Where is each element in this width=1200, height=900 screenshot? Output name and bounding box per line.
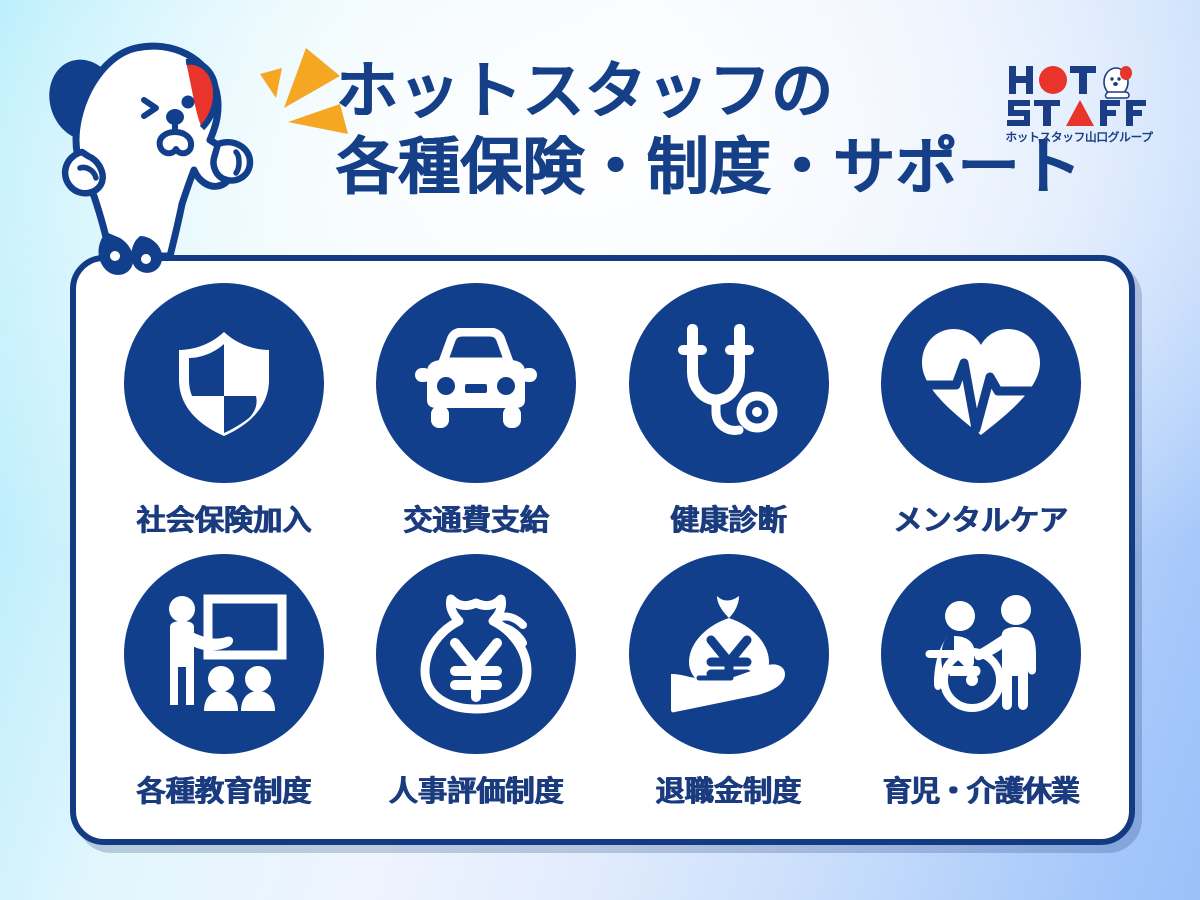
sparkle-icon (288, 104, 348, 134)
benefit-label: 健康診断 (670, 497, 787, 539)
benefit-icon-badge (629, 283, 829, 483)
car-icon (413, 328, 539, 438)
benefit-item-training-programs[interactable]: 各種教育制度 (98, 552, 350, 821)
benefit-item-health-checkup[interactable]: 健康診断 (603, 283, 855, 552)
benefit-icon-badge (881, 283, 1081, 483)
hot-staff-logomark (1004, 62, 1154, 128)
shield-icon (165, 324, 283, 442)
presentation-training-icon (160, 593, 288, 715)
page-title-line-1: ホットスタッフの (336, 54, 1082, 130)
sparkle-icon (284, 48, 340, 108)
benefit-icon-badge (376, 554, 576, 754)
logo-red-triangle-a (1066, 100, 1094, 126)
caregiving-wheelchair-icon (916, 592, 1046, 716)
benefit-item-hr-evaluation[interactable]: 人事評価制度 (350, 552, 602, 821)
logo-dog-icon (1104, 66, 1132, 98)
benefit-item-retirement-allowance[interactable]: 退職金制度 (603, 552, 855, 821)
dog-mascot-character (40, 28, 280, 278)
company-logo: ホットスタッフ山口グループ (1004, 62, 1154, 152)
page-title: ホットスタッフの 各種保険・制度・サポート (336, 54, 1082, 206)
mascot-eye (182, 96, 195, 109)
mascot-raised-paw (213, 142, 250, 180)
benefit-icon-badge (124, 554, 324, 754)
benefit-label: 交通費支給 (404, 497, 550, 539)
benefit-item-childcare-nursing-leave[interactable]: 育児・介護休業 (855, 552, 1107, 821)
money-bag-yen-icon (415, 593, 537, 715)
company-logo-subtitle: ホットスタッフ山口グループ (1003, 129, 1156, 145)
benefit-label: 各種教育制度 (137, 768, 312, 810)
mascot-left-paw (65, 152, 103, 193)
benefit-label: メンタルケア (893, 497, 1068, 539)
benefits-card: 社会保険加入 交通費支給 (70, 255, 1135, 845)
stethoscope-icon (673, 320, 785, 446)
benefit-label: 育児・介護休業 (883, 768, 1079, 810)
benefit-icon-badge (881, 554, 1081, 754)
money-bag-on-hand-icon (665, 592, 793, 716)
benefit-icon-badge (124, 283, 324, 483)
page-title-line-2: 各種保険・制度・サポート (336, 130, 1082, 206)
heart-pulse-icon (916, 323, 1046, 443)
benefits-grid: 社会保険加入 交通費支給 (76, 261, 1129, 839)
benefit-item-mental-care[interactable]: メンタルケア (855, 283, 1107, 552)
benefit-label: 人事評価制度 (389, 768, 564, 810)
poster-canvas: ホットスタッフの 各種保険・制度・サポート (0, 0, 1200, 900)
benefit-item-social-insurance[interactable]: 社会保険加入 (98, 283, 350, 552)
logo-red-circle-o (1039, 66, 1067, 94)
benefit-icon-badge (376, 283, 576, 483)
benefit-item-transport-allowance[interactable]: 交通費支給 (350, 283, 602, 552)
benefit-label: 退職金制度 (656, 768, 802, 810)
benefit-icon-badge (629, 554, 829, 754)
benefit-label: 社会保険加入 (137, 497, 312, 539)
